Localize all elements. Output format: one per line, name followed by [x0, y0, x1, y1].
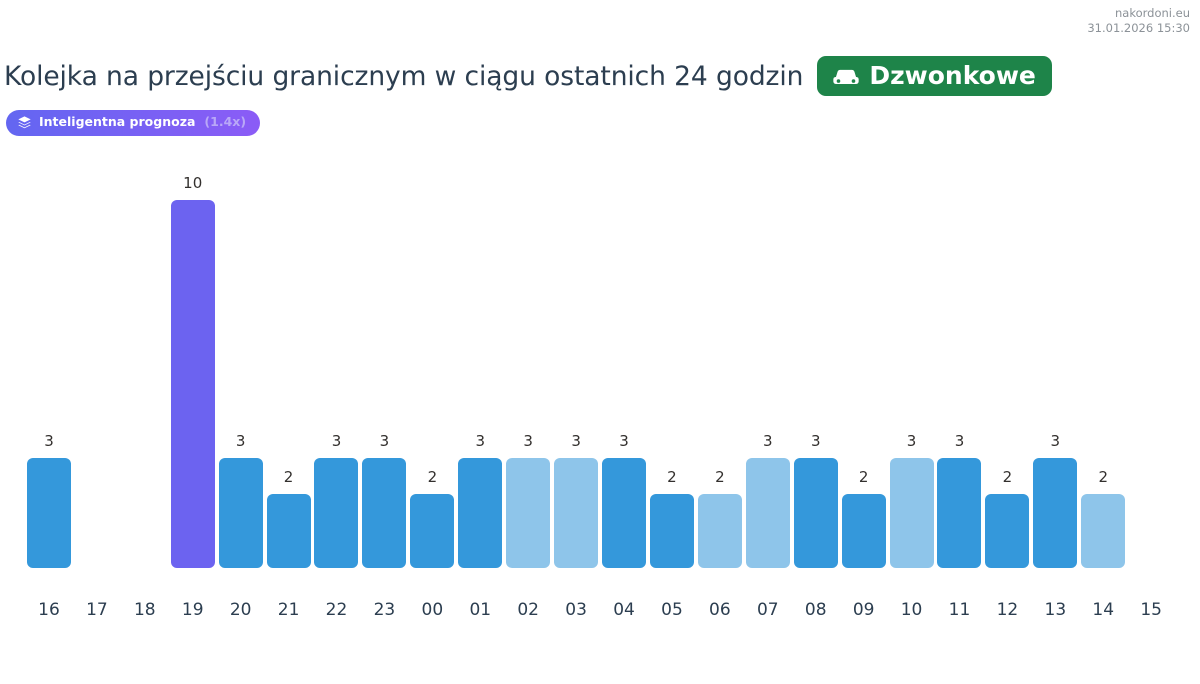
x-tick-08: 08 [792, 600, 840, 620]
x-tick-09: 09 [840, 600, 888, 620]
bar[interactable] [794, 458, 838, 568]
bar[interactable] [602, 458, 646, 568]
timestamp: 31.01.2026 15:30 [1087, 21, 1190, 36]
bar[interactable] [171, 200, 215, 568]
bar-value-label: 2 [428, 470, 438, 485]
bar[interactable] [937, 458, 981, 568]
bar[interactable] [458, 458, 502, 568]
bar[interactable] [842, 494, 886, 568]
x-tick-19: 19 [169, 600, 217, 620]
bar-slot-06[interactable]: 2 [696, 160, 744, 568]
x-tick-02: 02 [504, 600, 552, 620]
bar[interactable] [698, 494, 742, 568]
car-icon [831, 65, 861, 87]
crossing-badge-label: Dzwonkowe [869, 63, 1036, 88]
x-tick-10: 10 [888, 600, 936, 620]
bar-value-label: 3 [236, 434, 246, 449]
x-tick-11: 11 [936, 600, 984, 620]
x-tick-05: 05 [648, 600, 696, 620]
bar-slot-08[interactable]: 3 [792, 160, 840, 568]
bar-slot-02[interactable]: 3 [504, 160, 552, 568]
bar-value-label: 3 [475, 434, 485, 449]
bar-value-label: 3 [619, 434, 629, 449]
bar[interactable] [362, 458, 406, 568]
bar-slot-12[interactable]: 2 [983, 160, 1031, 568]
bar-slot-22[interactable]: 3 [313, 160, 361, 568]
bar-slot-15[interactable] [1127, 160, 1175, 568]
bar-slot-20[interactable]: 3 [217, 160, 265, 568]
x-tick-20: 20 [217, 600, 265, 620]
bar[interactable] [27, 458, 71, 568]
bar-value-label: 3 [523, 434, 533, 449]
page-title: Kolejka na przejściu granicznym w ciągu … [4, 61, 803, 92]
bar[interactable] [267, 494, 311, 568]
x-tick-14: 14 [1079, 600, 1127, 620]
bar-slot-10[interactable]: 3 [888, 160, 936, 568]
forecast-pill-label: Inteligentna prognoza [39, 116, 195, 129]
x-tick-07: 07 [744, 600, 792, 620]
bar[interactable] [650, 494, 694, 568]
bar-value-label: 2 [284, 470, 294, 485]
bar-slot-11[interactable]: 3 [936, 160, 984, 568]
bar-value-label: 2 [715, 470, 725, 485]
crossing-badge[interactable]: Dzwonkowe [817, 56, 1052, 96]
bar-value-label: 10 [183, 176, 202, 191]
x-tick-22: 22 [313, 600, 361, 620]
bar[interactable] [1081, 494, 1125, 568]
title-row: Kolejka na przejściu granicznym w ciągu … [4, 56, 1200, 96]
bar-slot-17[interactable] [73, 160, 121, 568]
bar-slot-13[interactable]: 3 [1031, 160, 1079, 568]
x-tick-17: 17 [73, 600, 121, 620]
queue-bar-chart: 3103233233332233233232 16171819202122230… [0, 160, 1200, 650]
x-tick-13: 13 [1031, 600, 1079, 620]
bar-value-label: 3 [571, 434, 581, 449]
bar-slot-21[interactable]: 2 [265, 160, 313, 568]
bar[interactable] [890, 458, 934, 568]
bar-slot-07[interactable]: 3 [744, 160, 792, 568]
bar-slot-05[interactable]: 2 [648, 160, 696, 568]
x-tick-06: 06 [696, 600, 744, 620]
bar-value-label: 2 [1098, 470, 1108, 485]
bar[interactable] [410, 494, 454, 568]
x-tick-03: 03 [552, 600, 600, 620]
bar-slot-19[interactable]: 10 [169, 160, 217, 568]
bar-slot-23[interactable]: 3 [360, 160, 408, 568]
chart-plot-area: 3103233233332233233232 [25, 160, 1175, 568]
bar-slot-04[interactable]: 3 [600, 160, 648, 568]
bar-value-label: 3 [907, 434, 917, 449]
bar[interactable] [219, 458, 263, 568]
bar[interactable] [506, 458, 550, 568]
site-name: nakordoni.eu [1087, 6, 1190, 21]
bar-value-label: 2 [1003, 470, 1013, 485]
bar-slot-03[interactable]: 3 [552, 160, 600, 568]
x-tick-21: 21 [265, 600, 313, 620]
x-tick-18: 18 [121, 600, 169, 620]
x-tick-15: 15 [1127, 600, 1175, 620]
page-meta: nakordoni.eu 31.01.2026 15:30 [1087, 6, 1190, 36]
chart-x-axis: 1617181920212223000102030405060708091011… [25, 600, 1175, 620]
bar-value-label: 2 [667, 470, 677, 485]
bar-slot-16[interactable]: 3 [25, 160, 73, 568]
x-tick-23: 23 [360, 600, 408, 620]
bar-value-label: 3 [332, 434, 342, 449]
x-tick-00: 00 [408, 600, 456, 620]
bar-slot-09[interactable]: 2 [840, 160, 888, 568]
bar-value-label: 3 [1051, 434, 1061, 449]
bar-value-label: 3 [380, 434, 390, 449]
x-tick-04: 04 [600, 600, 648, 620]
bar[interactable] [985, 494, 1029, 568]
bar-value-label: 2 [859, 470, 869, 485]
x-tick-01: 01 [456, 600, 504, 620]
bar-value-label: 3 [44, 434, 54, 449]
x-tick-16: 16 [25, 600, 73, 620]
layers-icon [17, 115, 32, 130]
forecast-pill[interactable]: Inteligentna prognoza (1.4x) [6, 110, 260, 136]
bar[interactable] [554, 458, 598, 568]
bar[interactable] [314, 458, 358, 568]
bar-slot-14[interactable]: 2 [1079, 160, 1127, 568]
x-tick-12: 12 [983, 600, 1031, 620]
bar[interactable] [1033, 458, 1077, 568]
bar[interactable] [746, 458, 790, 568]
bar-value-label: 3 [763, 434, 773, 449]
bar-slot-18[interactable] [121, 160, 169, 568]
bar-slot-01[interactable]: 3 [456, 160, 504, 568]
bar-slot-00[interactable]: 2 [408, 160, 456, 568]
forecast-factor: (1.4x) [204, 116, 246, 129]
bar-value-label: 3 [955, 434, 965, 449]
bar-value-label: 3 [811, 434, 821, 449]
